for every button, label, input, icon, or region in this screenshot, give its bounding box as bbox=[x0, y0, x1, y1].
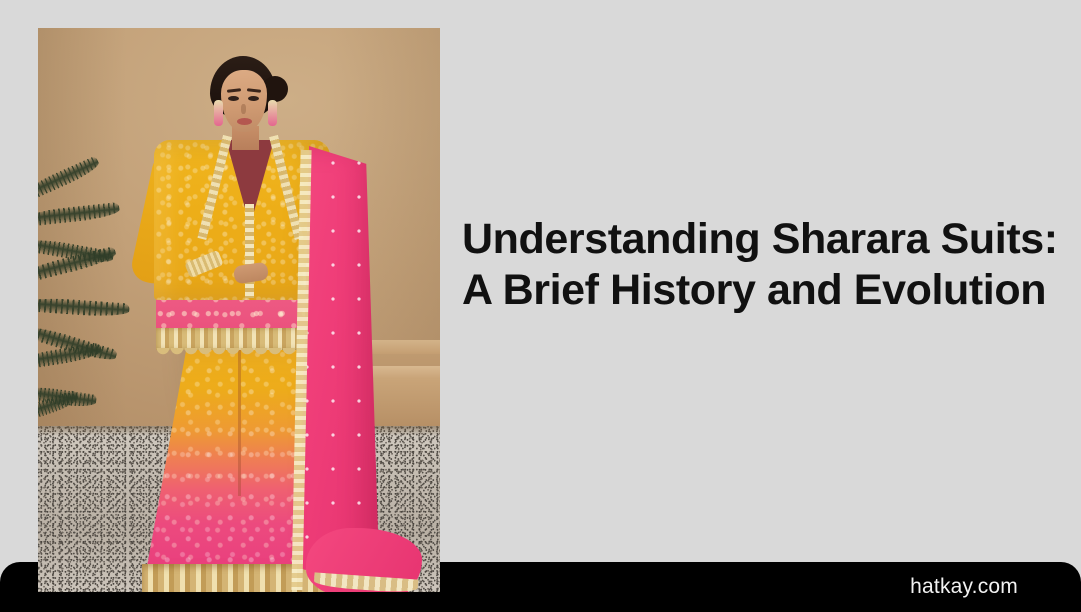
model-eye-left bbox=[228, 96, 239, 101]
model-lips bbox=[237, 118, 252, 125]
site-watermark: hatkay.com bbox=[910, 575, 1018, 599]
banner-page: Understanding Sharara Suits: A Brief His… bbox=[0, 0, 1081, 612]
product-photo bbox=[38, 28, 440, 592]
fashion-model bbox=[38, 28, 440, 592]
model-nose bbox=[241, 104, 246, 114]
kurta-placket-center bbox=[245, 204, 254, 298]
earring-right bbox=[268, 100, 277, 126]
sharara-leg-split bbox=[238, 346, 241, 496]
page-title: Understanding Sharara Suits: A Brief His… bbox=[462, 214, 1052, 316]
studio-scene bbox=[38, 28, 440, 592]
earring-left bbox=[214, 100, 223, 126]
model-eye-right bbox=[248, 96, 259, 101]
page-title-line-1: Understanding Sharara Suits: bbox=[462, 214, 1052, 265]
page-title-line-2: A Brief History and Evolution bbox=[462, 265, 1052, 316]
